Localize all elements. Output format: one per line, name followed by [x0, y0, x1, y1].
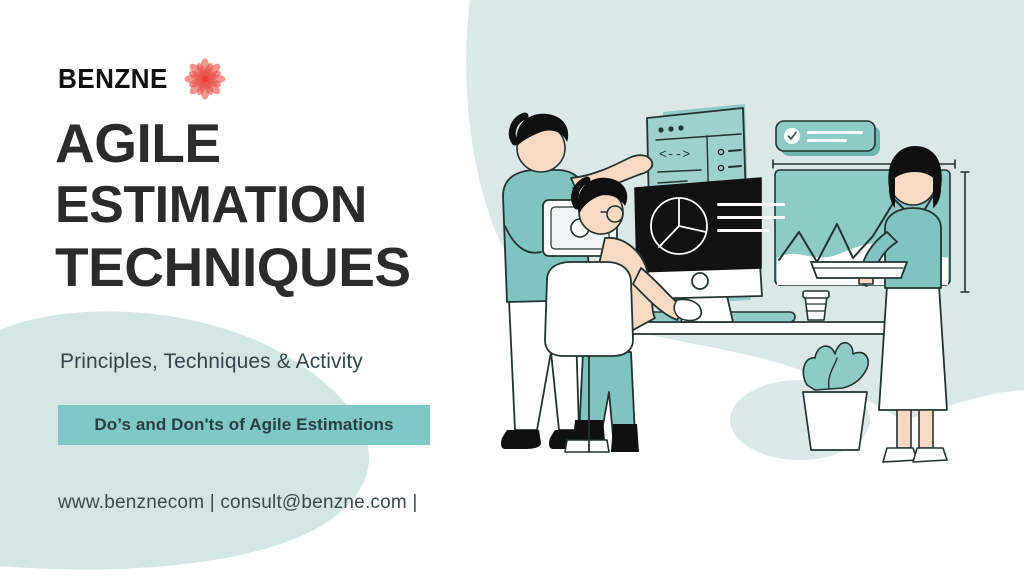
tray	[811, 262, 907, 278]
code-tag-1: <-->	[659, 147, 690, 162]
footer-contact: www.benznecom | consult@benzne.com |	[58, 492, 418, 514]
team-working-illustration: <--> <-/>	[455, 0, 1024, 576]
title-line-3: TECHNIQUES	[55, 236, 455, 298]
status-badge: Do’s and Don'ts of Agile Estimations	[58, 405, 430, 445]
left-content-column: BENZNE	[0, 0, 470, 576]
flower-icon	[184, 58, 226, 100]
page-title: AGILE ESTIMATION TECHNIQUES	[55, 112, 455, 298]
brand-logo: BENZNE	[58, 58, 226, 100]
check-circle-icon	[784, 128, 800, 144]
coffee-cup	[803, 291, 829, 320]
subtitle: Principles, Techniques & Activity	[60, 350, 363, 374]
status-badge-label: Do’s and Don'ts of Agile Estimations	[94, 415, 393, 435]
title-line-1: AGILE	[55, 112, 455, 174]
brand-name: BENZNE	[58, 65, 168, 93]
title-line-2: ESTIMATION	[55, 174, 455, 236]
potted-cactus	[803, 343, 868, 450]
notification-card	[776, 121, 880, 156]
poster-canvas: BENZNE	[0, 0, 1024, 576]
